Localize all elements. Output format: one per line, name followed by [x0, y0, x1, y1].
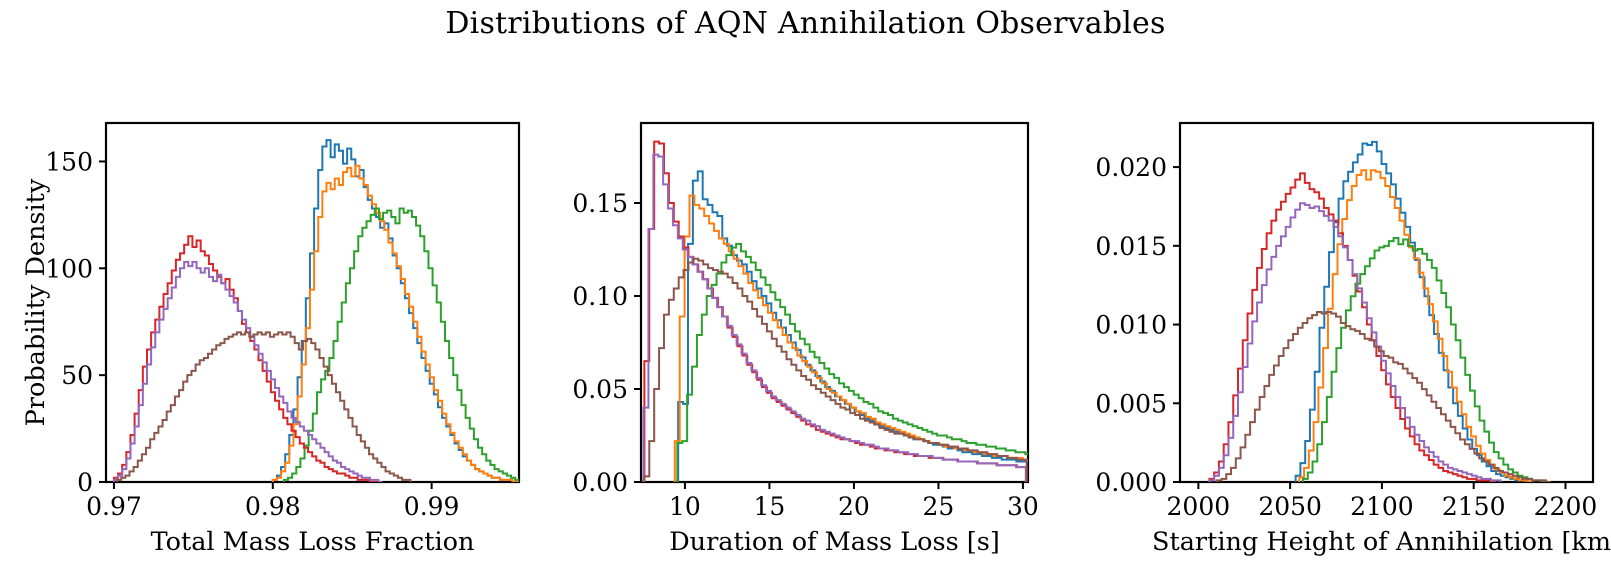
y-tick-label: 0.05 — [572, 375, 628, 404]
y-tick-label: 100 — [45, 254, 93, 283]
x-tick-label: 2050 — [1258, 492, 1322, 521]
histogram-orange — [675, 196, 1043, 482]
y-tick-label: 0 — [77, 468, 93, 497]
panel-starting-height-of-annihilation: 200020502100215022000.0000.0050.0100.015… — [1080, 113, 1611, 562]
y-tick-label: 150 — [45, 147, 93, 176]
histogram-brown — [117, 332, 410, 482]
x-tick-label: 2000 — [1167, 492, 1231, 521]
panel-duration-of-mass-loss: 10152025300.000.050.100.15Duration of Ma… — [541, 113, 1050, 562]
figure-canvas: Distributions of AQN Annihilation Observ… — [0, 0, 1611, 571]
x-axis-label: Starting Height of Annihilation [km] — [1152, 527, 1611, 557]
x-tick-label: 2150 — [1442, 492, 1506, 521]
x-tick-label: 30 — [1007, 492, 1039, 521]
histogram-red — [114, 236, 378, 482]
histogram-purple — [114, 262, 382, 482]
histogram-series-group — [114, 140, 528, 482]
y-tick-label: 0.10 — [572, 282, 628, 311]
figure-title: Distributions of AQN Annihilation Observ… — [0, 6, 1611, 41]
x-tick-label: 20 — [838, 492, 870, 521]
y-tick-label: 50 — [61, 361, 93, 390]
histogram-purple — [1209, 203, 1500, 482]
axes-spines — [641, 123, 1028, 482]
x-tick-label: 0.97 — [86, 492, 142, 521]
y-tick-label: 0.015 — [1095, 232, 1167, 261]
x-axis-label: Duration of Mass Loss [s] — [669, 527, 1000, 557]
axes-spines — [1180, 123, 1593, 482]
y-tick-label: 0.020 — [1095, 153, 1167, 182]
histogram-series-group — [644, 142, 1046, 482]
x-tick-label: 0.99 — [404, 492, 460, 521]
y-tick-label: 0.000 — [1095, 468, 1167, 497]
panel-total-mass-loss-fraction: 0.970.980.99050100150Total Mass Loss Fra… — [6, 113, 541, 562]
histogram-brown — [1217, 312, 1551, 482]
x-axis-label: Total Mass Loss Fraction — [151, 527, 475, 557]
plot-area-1: 10152025300.000.050.100.15Duration of Ma… — [541, 113, 1050, 562]
histogram-green — [284, 208, 528, 482]
y-tick-label: 0.010 — [1095, 311, 1167, 340]
histogram-series-group — [1209, 142, 1550, 482]
histogram-brown — [644, 259, 1026, 482]
x-tick-label: 15 — [754, 492, 786, 521]
x-tick-label: 25 — [923, 492, 955, 521]
x-tick-label: 2200 — [1534, 492, 1598, 521]
x-tick-label: 2100 — [1350, 492, 1414, 521]
y-axis-label: Probability Density — [21, 178, 51, 426]
plot-area-0: 0.970.980.99050100150Total Mass Loss Fra… — [6, 113, 541, 562]
x-tick-label: 0.98 — [245, 492, 301, 521]
x-tick-label: 10 — [669, 492, 701, 521]
plot-area-2: 200020502100215022000.0000.0050.0100.015… — [1080, 113, 1611, 562]
y-tick-label: 0.15 — [572, 189, 628, 218]
y-tick-label: 0.005 — [1095, 389, 1167, 418]
y-tick-label: 0.00 — [572, 468, 628, 497]
